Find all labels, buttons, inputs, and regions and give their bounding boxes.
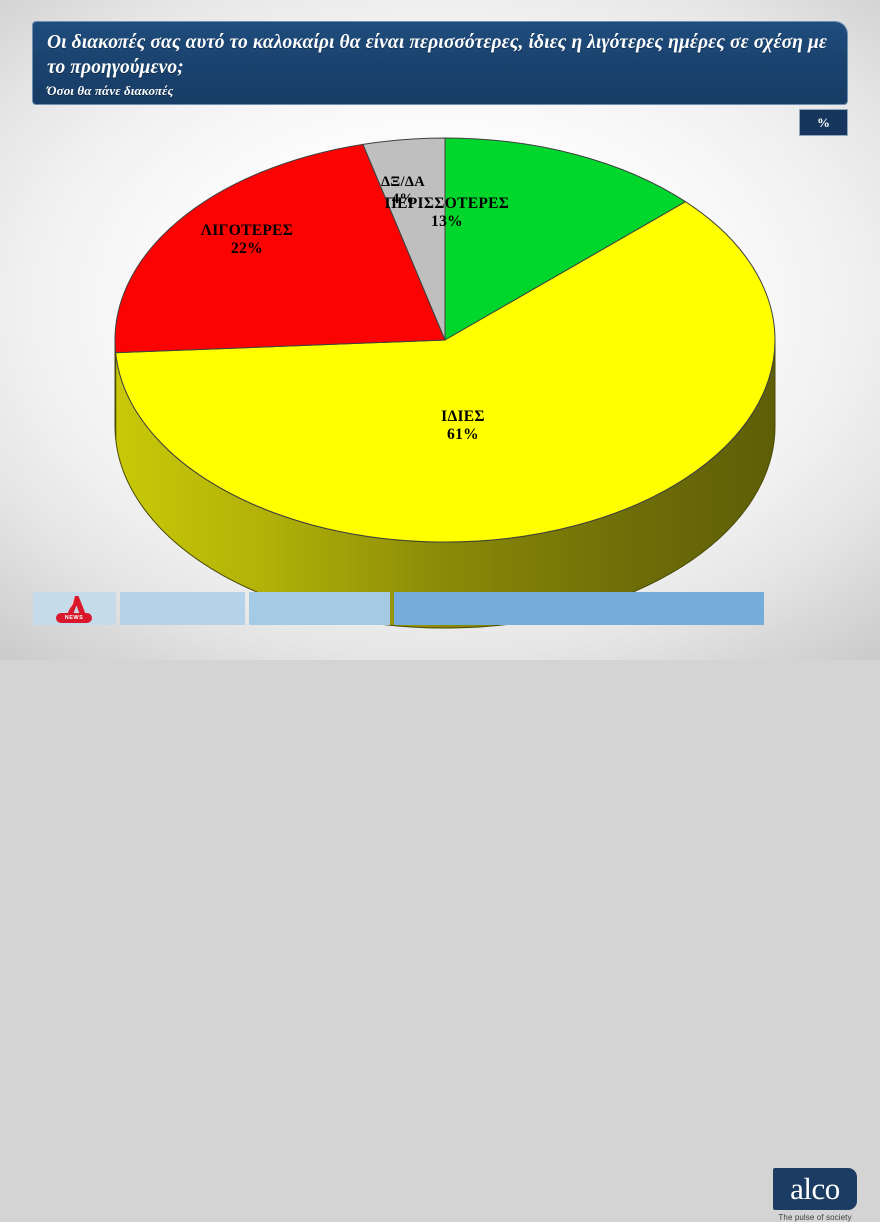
pie-label-ligoteres-text: ΛΙΓΟΤΕΡΕΣ — [201, 222, 293, 239]
pie-label-ligoteres-value: 22% — [201, 240, 293, 258]
page-title: Οι διακοπές σας αυτό το καλοκαίρι θα είν… — [47, 31, 833, 81]
alco-logo-box: alco — [773, 1168, 857, 1210]
percent-unit-badge: % — [800, 110, 847, 135]
footer: NEWS alco The pulse of society — [0, 580, 880, 660]
pie-chart: ΠΕΡΙΣΣΟΤΕΡΕΣ 13% ΙΔΙΕΣ 61% ΛΙΓΟΤΕΡΕΣ 22%… — [95, 140, 795, 560]
pie-label-perissoteres-value: 13% — [385, 213, 509, 231]
page-subtitle: Όσοι θα πάνε διακοπές — [47, 83, 833, 99]
footer-segment-logo: NEWS — [33, 592, 116, 625]
pie-label-idies-value: 61% — [441, 426, 485, 444]
footer-segment-4 — [394, 592, 764, 625]
slide-canvas: Οι διακοπές σας αυτό το καλοκαίρι θα είν… — [0, 0, 880, 660]
footer-segment-2 — [120, 592, 245, 625]
pie-label-idies: ΙΔΙΕΣ 61% — [441, 408, 485, 445]
alco-wordmark: alco — [790, 1173, 840, 1204]
alco-tagline: The pulse of society — [773, 1213, 857, 1222]
header-band: Οι διακοπές σας αυτό το καλοκαίρι θα είν… — [33, 22, 847, 104]
footer-segment-3 — [249, 592, 390, 625]
alpha-news-pill: NEWS — [56, 613, 92, 623]
alco-logo: alco The pulse of society — [773, 1168, 857, 1222]
pie-label-idies-text: ΙΔΙΕΣ — [441, 408, 485, 425]
pie-label-dxda: ΔΞ/ΔΑ 4% — [381, 174, 425, 208]
pie-label-dxda-text: ΔΞ/ΔΑ — [381, 174, 425, 190]
pie-label-dxda-value: 4% — [381, 191, 425, 208]
pie-label-ligoteres: ΛΙΓΟΤΕΡΕΣ 22% — [201, 222, 293, 259]
footer-color-bar: NEWS — [33, 592, 764, 625]
